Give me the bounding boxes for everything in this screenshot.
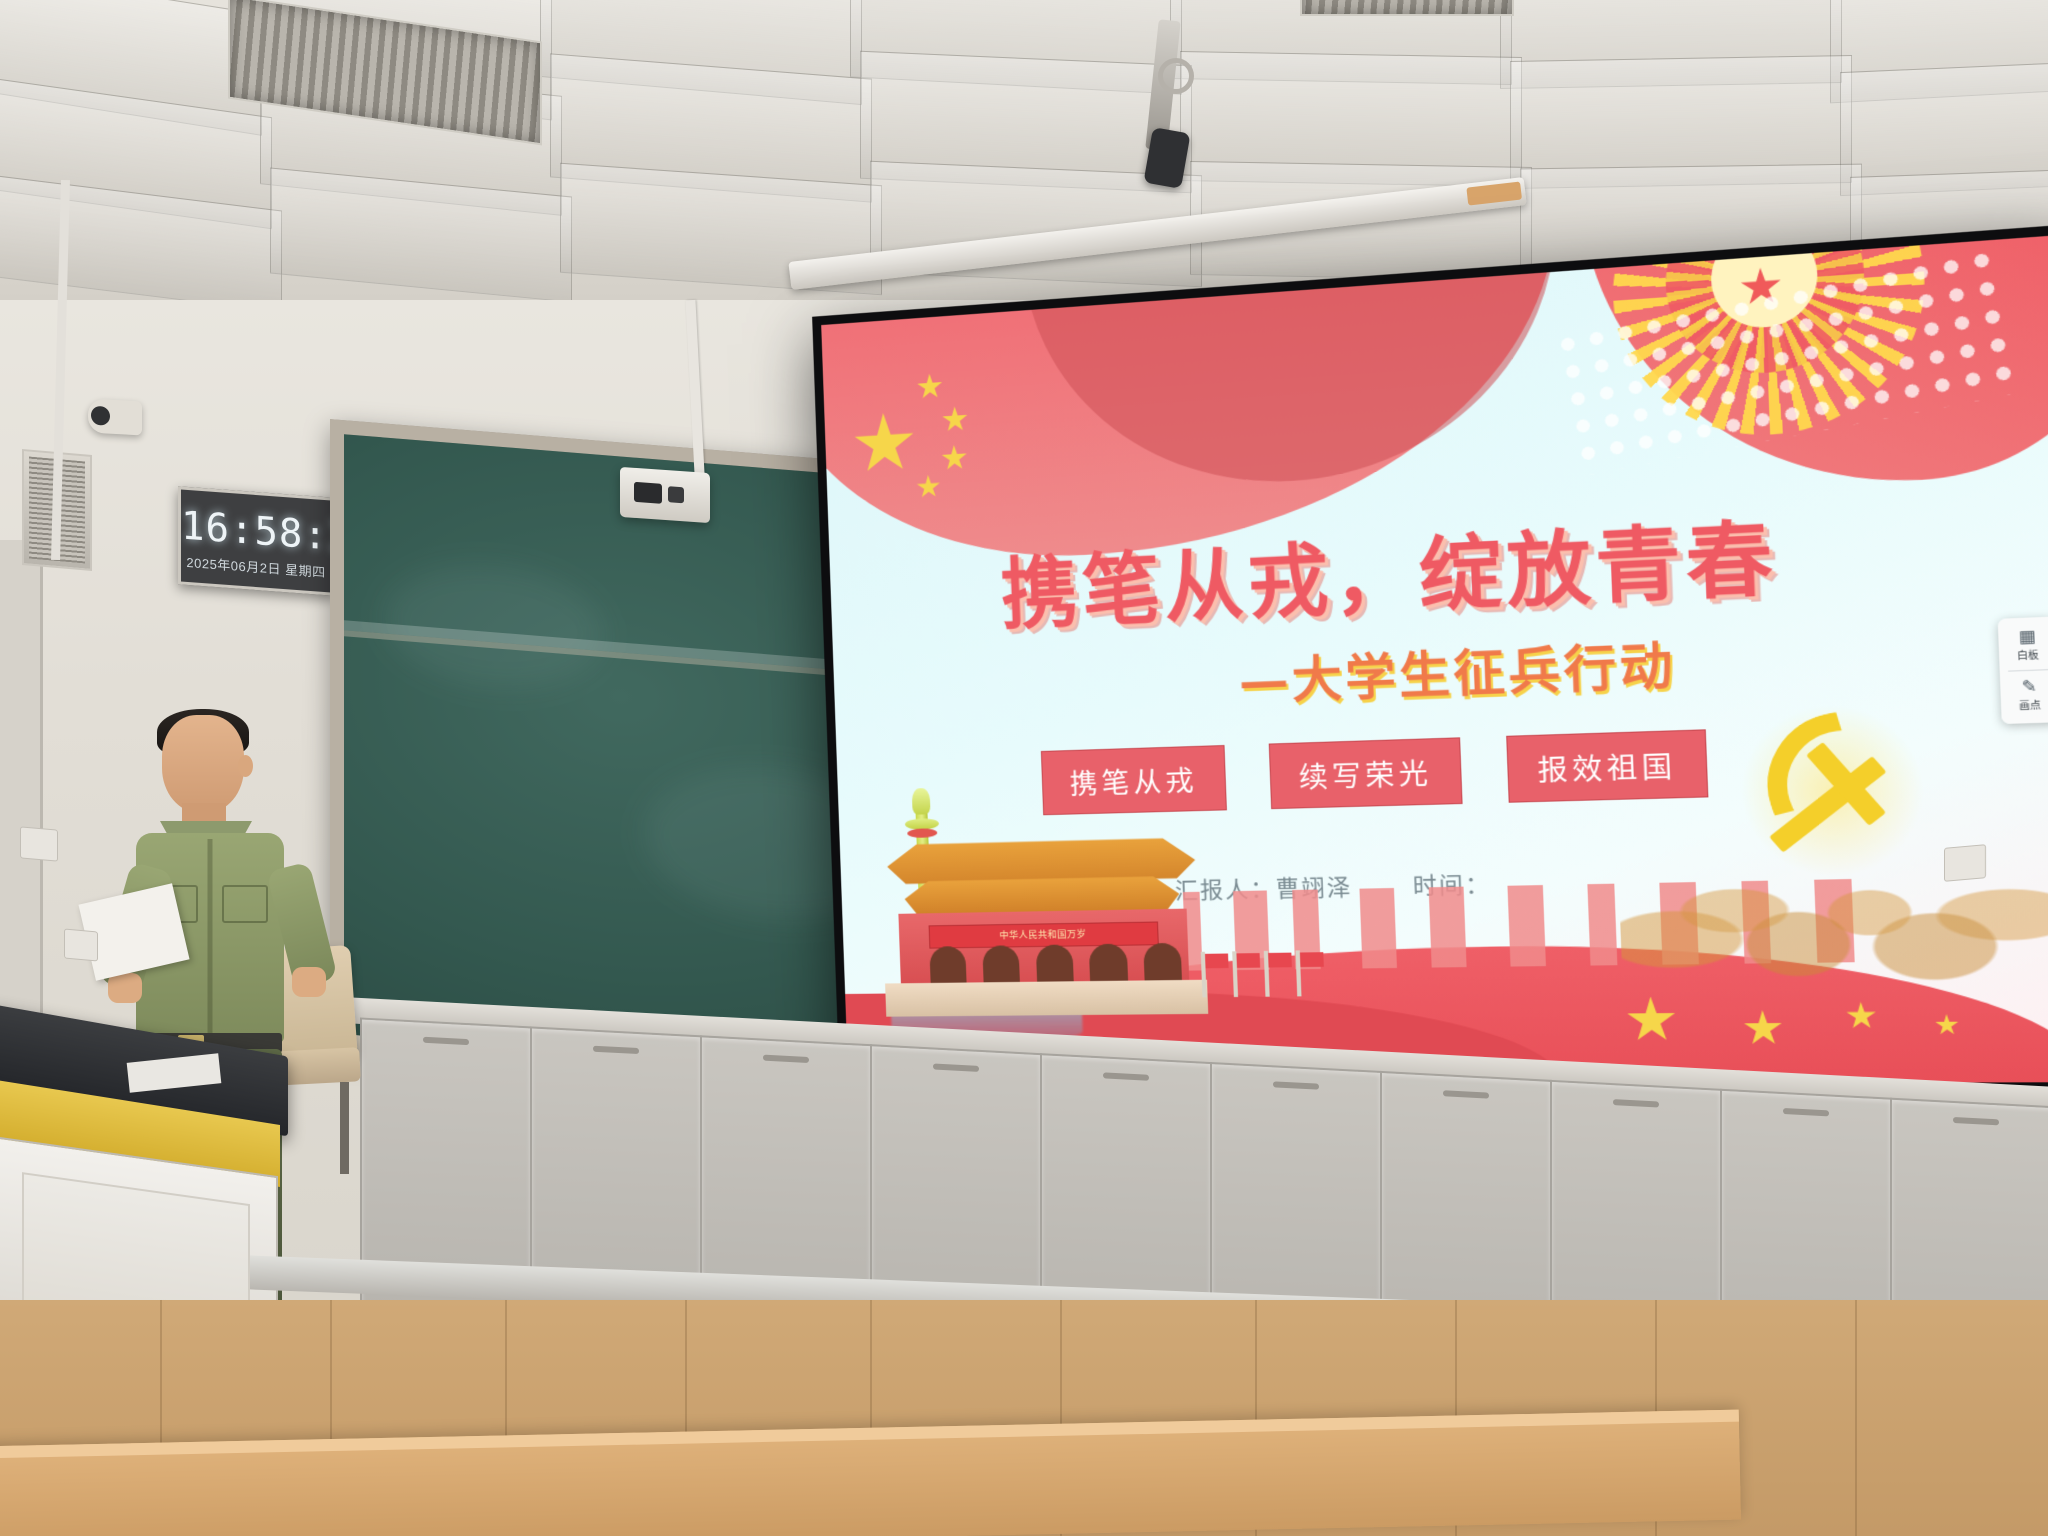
toolbar-pen-button[interactable]: ✎ 画点	[2003, 672, 2048, 718]
projector-lens	[634, 482, 662, 504]
chair-leg	[340, 1082, 349, 1174]
slide-bottom-stars	[1610, 973, 2011, 1067]
tiananmen-gate-illustration: 中华人民共和国万岁	[871, 775, 1214, 1016]
digital-wall-clock: 16:58:39 2025年06月2日 星期四	[178, 486, 334, 595]
ceiling-vent-right	[1300, 0, 1514, 16]
wall-outlet[interactable]	[1944, 844, 1986, 882]
china-flag-stars	[845, 346, 1081, 512]
projector	[620, 467, 710, 523]
screen-toolbar[interactable]: ▦ 白板 ✎ 画点	[1998, 616, 2048, 724]
wall-outlet[interactable]	[64, 929, 98, 962]
slide-mini-flags	[1201, 946, 1330, 998]
toolbar-whiteboard-label: 白板	[2017, 647, 2039, 662]
toolbar-whiteboard-button[interactable]: ▦ 白板	[2002, 622, 2048, 668]
whiteboard-icon: ▦	[2018, 628, 2036, 645]
classroom-scene: 16:58:39 2025年06月2日 星期四	[0, 0, 2048, 1536]
projection-screen[interactable]: 携笔从戎，绽放青春 —大学生征兵行动 携笔从戎 续写荣光 报效祖国 汇报人：曹翊…	[812, 224, 2048, 1094]
toolbar-pen-label: 画点	[2019, 697, 2041, 712]
microphone-ring	[1158, 58, 1194, 94]
pen-icon: ✎	[2021, 678, 2037, 695]
person-left-hand	[108, 973, 142, 1003]
projector-sensor	[668, 486, 684, 503]
person-right-hand	[292, 967, 326, 997]
person-head	[162, 715, 244, 813]
person-ear	[238, 755, 253, 777]
roller-end-cap	[1466, 181, 1522, 205]
wall-outlet[interactable]	[20, 826, 58, 861]
party-emblem-icon	[1729, 694, 1934, 885]
slide-button-2[interactable]: 续写荣光	[1269, 738, 1463, 810]
security-camera	[88, 399, 142, 436]
toolbar-divider	[2008, 669, 2048, 672]
gate-banner-text: 中华人民共和国万岁	[929, 921, 1160, 948]
clock-time: 16:58:39	[181, 503, 331, 559]
presentation-slide[interactable]: 携笔从戎，绽放青春 —大学生征兵行动 携笔从戎 续写荣光 报效祖国 汇报人：曹翊…	[821, 235, 2048, 1085]
